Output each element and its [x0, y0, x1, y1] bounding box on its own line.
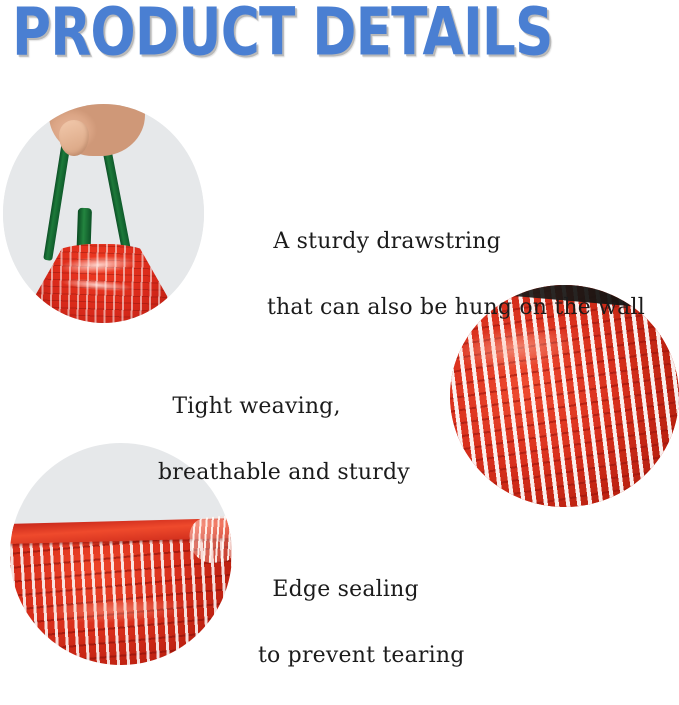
- caption-line-2: breathable and sturdy: [158, 456, 410, 489]
- page-title: PRODUCT DETAILS: [12, 0, 553, 68]
- caption-line-2: to prevent tearing: [258, 639, 465, 672]
- feature-caption-weaving: Tight weaving, breathable and sturdy: [158, 357, 410, 522]
- caption-line-1: Edge sealing: [272, 577, 418, 602]
- feature-caption-edge: Edge sealing to prevent tearing: [258, 540, 465, 705]
- feature-photo-drawstring: [3, 104, 204, 323]
- caption-line-2: that can also be hung on the wall: [259, 291, 645, 324]
- feature-caption-drawstring: A sturdy drawstring that can also be hun…: [259, 192, 645, 357]
- caption-line-1: A sturdy drawstring: [273, 229, 501, 254]
- caption-line-1: Tight weaving,: [172, 394, 340, 419]
- mesh-gloss-highlight: [15, 590, 216, 631]
- header: PRODUCT DETAILS: [0, 0, 679, 78]
